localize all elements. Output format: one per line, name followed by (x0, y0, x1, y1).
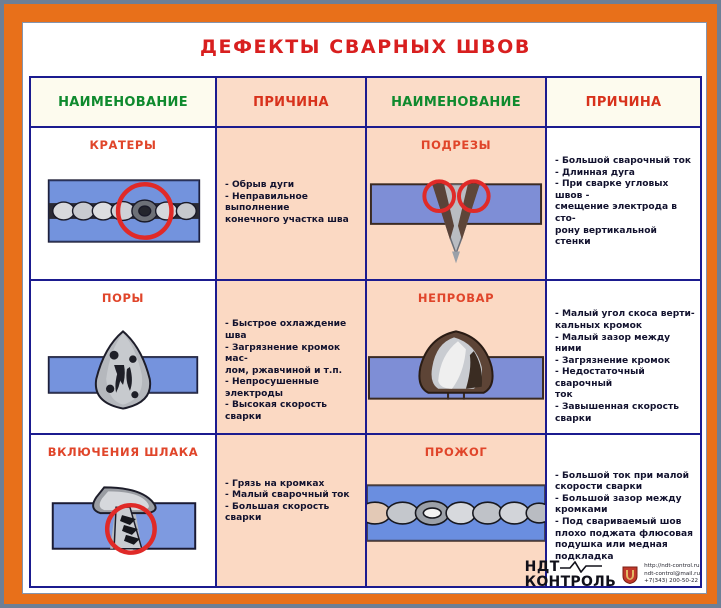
cause-cell-kratery: - Обрыв дуги - Неправильное выполнение к… (217, 128, 367, 279)
defect-title: ПОРЫ (31, 291, 215, 305)
weld-porosity-illustration (31, 313, 215, 425)
defect-cell-podrezy: ПОДРЕЗЫ (367, 128, 547, 279)
waveform-icon (560, 561, 602, 573)
cause-text: - Большой ток при малой скорости сварки … (555, 471, 695, 564)
defect-title: КРАТЕРЫ (31, 138, 215, 152)
defect-cell-vklyucheniya-shlaka: ВКЛЮЧЕНИЯ ШЛАКА (31, 435, 217, 586)
weld-bead-crater-illustration (31, 158, 215, 263)
poster-orange-frame: ДЕФЕКТЫ СВАРНЫХ ШВОВ НАИМЕНОВАНИЕ ПРИЧИН… (4, 4, 717, 604)
defect-title: ПРОЖОГ (367, 445, 545, 459)
cause-text: - Быстрое охлаждение шва - Загрязнение к… (225, 319, 360, 423)
cause-cell-neprovar: - Малый угол скоса верти- кальных кромок… (547, 281, 700, 432)
defect-cell-pory: ПОРЫ (31, 281, 217, 432)
column-header-cause-right: ПРИЧИНА (547, 78, 700, 126)
contact-phone: +7(343) 200-50-22 (644, 578, 700, 585)
cause-text: - Малый угол скоса верти- кальных кромок… (555, 309, 695, 425)
cause-text: - Грязь на кромках - Малый сварочный ток… (225, 479, 360, 525)
poster-sheet: ДЕФЕКТЫ СВАРНЫХ ШВОВ НАИМЕНОВАНИЕ ПРИЧИН… (22, 22, 707, 594)
page-title: ДЕФЕКТЫ СВАРНЫХ ШВОВ (23, 36, 707, 58)
cause-cell-pory: - Быстрое охлаждение шва - Загрязнение к… (217, 281, 367, 432)
column-header-label: ПРИЧИНА (586, 95, 662, 110)
poster-outer-border: ДЕФЕКТЫ СВАРНЫХ ШВОВ НАИМЕНОВАНИЕ ПРИЧИН… (0, 0, 721, 608)
cause-cell-vklyucheniya-shlaka: - Грязь на кромках - Малый сварочный ток… (217, 435, 367, 586)
column-header-name-left: НАИМЕНОВАНИЕ (31, 78, 217, 126)
table-header-row: НАИМЕНОВАНИЕ ПРИЧИНА НАИМЕНОВАНИЕ ПРИЧИН… (31, 78, 700, 128)
logo-line-kontrol: КОНТРОЛЬ (525, 575, 616, 589)
defect-cell-prozhog: ПРОЖОГ (367, 435, 547, 586)
logo-line-ndt: НДТ (525, 560, 560, 574)
table-row: КРАТЕРЫ (31, 128, 700, 281)
column-header-label: НАИМЕНОВАНИЕ (391, 95, 521, 110)
shield-crest-icon (622, 566, 638, 584)
defect-title: ПОДРЕЗЫ (367, 138, 545, 152)
defect-title: НЕПРОВАР (367, 291, 545, 305)
logo-contacts: http://ndt-control.ru ndt-control@mail.r… (644, 563, 700, 585)
defect-cell-neprovar: НЕПРОВАР (367, 281, 547, 432)
defects-table: НАИМЕНОВАНИЕ ПРИЧИНА НАИМЕНОВАНИЕ ПРИЧИН… (29, 76, 702, 588)
cause-text: - Большой сварочный ток - Длинная дуга -… (555, 156, 695, 249)
defect-title: ВКЛЮЧЕНИЯ ШЛАКА (31, 445, 215, 459)
column-header-label: ПРИЧИНА (253, 95, 329, 110)
contact-website: http://ndt-control.ru (644, 563, 700, 570)
weld-undercut-illustration (367, 156, 545, 268)
ndt-control-logo: НДТ КОНТРОЛЬ http://ndt-control.ru ndt-c… (525, 560, 700, 589)
weld-lack-of-fusion-illustration (367, 311, 545, 423)
column-header-cause-left: ПРИЧИНА (217, 78, 367, 126)
contact-email: ndt-control@mail.ru (644, 571, 700, 578)
weld-burn-through-illustration (367, 467, 545, 567)
defect-cell-kratery: КРАТЕРЫ (31, 128, 217, 279)
cause-cell-podrezy: - Большой сварочный ток - Длинная дуга -… (547, 128, 700, 279)
column-header-name-right: НАИМЕНОВАНИЕ (367, 78, 547, 126)
logo-wordmark: НДТ КОНТРОЛЬ (525, 560, 616, 589)
column-header-label: НАИМЕНОВАНИЕ (58, 95, 188, 110)
weld-slag-inclusion-illustration (31, 469, 215, 579)
table-row: ПОРЫ (31, 281, 700, 434)
cause-text: - Обрыв дуги - Неправильное выполнение к… (225, 180, 360, 226)
